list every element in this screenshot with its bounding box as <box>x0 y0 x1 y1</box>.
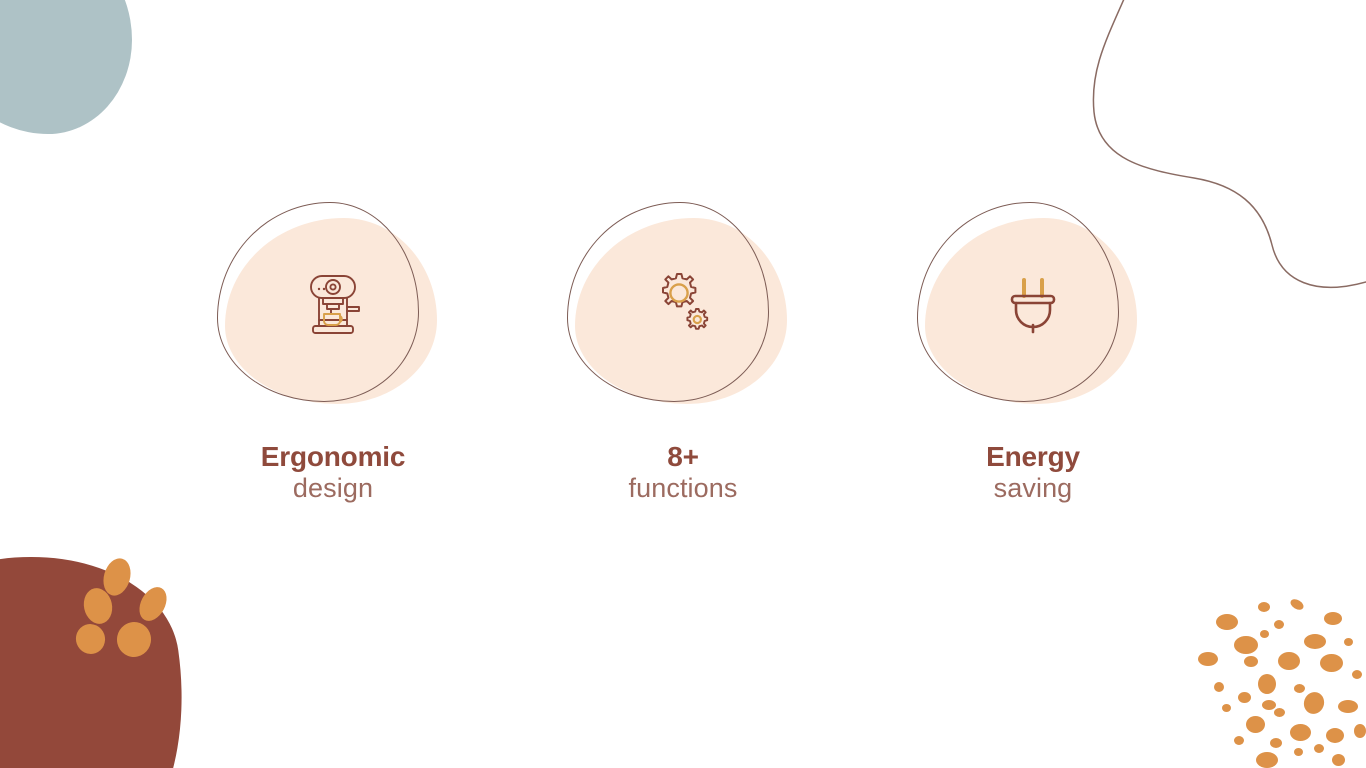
dot <box>1289 597 1306 612</box>
dot <box>1222 704 1231 712</box>
dot <box>1326 728 1344 743</box>
dot <box>1234 636 1258 654</box>
dot <box>1198 652 1218 666</box>
feature-caption: Ergonomic design <box>261 442 405 503</box>
feature-card-energy-saving: Energy saving <box>917 196 1149 503</box>
scattered-dots-bottom-right <box>1186 578 1366 768</box>
dot <box>1270 738 1282 748</box>
dot <box>1290 724 1311 741</box>
icon-holder <box>567 196 799 412</box>
dot <box>1262 700 1276 710</box>
dot <box>1216 614 1238 630</box>
espresso-machine-icon <box>297 268 369 340</box>
dot <box>1314 744 1324 753</box>
dot <box>1301 689 1327 717</box>
dot <box>1274 708 1285 717</box>
dot <box>1256 752 1278 768</box>
feature-caption: Energy saving <box>986 442 1080 503</box>
sage-blob-top-left <box>0 0 132 134</box>
terracotta-blob-bottom-left <box>0 536 207 768</box>
coffee-bean <box>134 582 172 625</box>
feature-card-ergonomic-design: Ergonomic design <box>217 196 449 503</box>
icon-holder <box>217 196 449 412</box>
dot <box>1354 724 1366 738</box>
coffee-beans-cluster <box>84 558 180 670</box>
icon-holder <box>917 196 1149 412</box>
dot <box>1352 670 1362 679</box>
coffee-bean <box>99 555 134 599</box>
dot <box>1234 736 1244 745</box>
dot <box>1258 602 1270 612</box>
dot <box>1332 754 1345 766</box>
power-plug-icon <box>997 268 1069 340</box>
dot <box>1258 674 1276 694</box>
dot <box>1214 682 1224 692</box>
feature-title: 8+ <box>629 442 738 472</box>
coffee-bean <box>72 620 110 658</box>
dot <box>1324 612 1342 625</box>
feature-card-8-plus-functions: 8+ functions <box>567 196 799 503</box>
gears-icon <box>647 268 719 340</box>
feature-row: Ergonomic design <box>0 196 1366 503</box>
dot <box>1278 652 1300 670</box>
slide-canvas: Ergonomic design <box>0 0 1366 768</box>
dot <box>1244 656 1258 667</box>
dot <box>1274 620 1284 629</box>
dot <box>1304 634 1326 649</box>
dot <box>1246 716 1265 733</box>
dot <box>1338 700 1358 713</box>
dot <box>1260 630 1269 638</box>
feature-subtitle: functions <box>629 474 738 503</box>
coffee-bean <box>114 619 154 659</box>
feature-caption: 8+ functions <box>629 442 738 503</box>
dot <box>1238 692 1251 703</box>
feature-title: Ergonomic <box>261 442 405 472</box>
dot <box>1294 684 1305 693</box>
dot <box>1344 638 1353 646</box>
dot <box>1294 748 1303 756</box>
coffee-bean <box>81 585 116 626</box>
feature-title: Energy <box>986 442 1080 472</box>
feature-subtitle: saving <box>986 474 1080 503</box>
feature-subtitle: design <box>261 474 405 503</box>
dot <box>1320 654 1343 672</box>
